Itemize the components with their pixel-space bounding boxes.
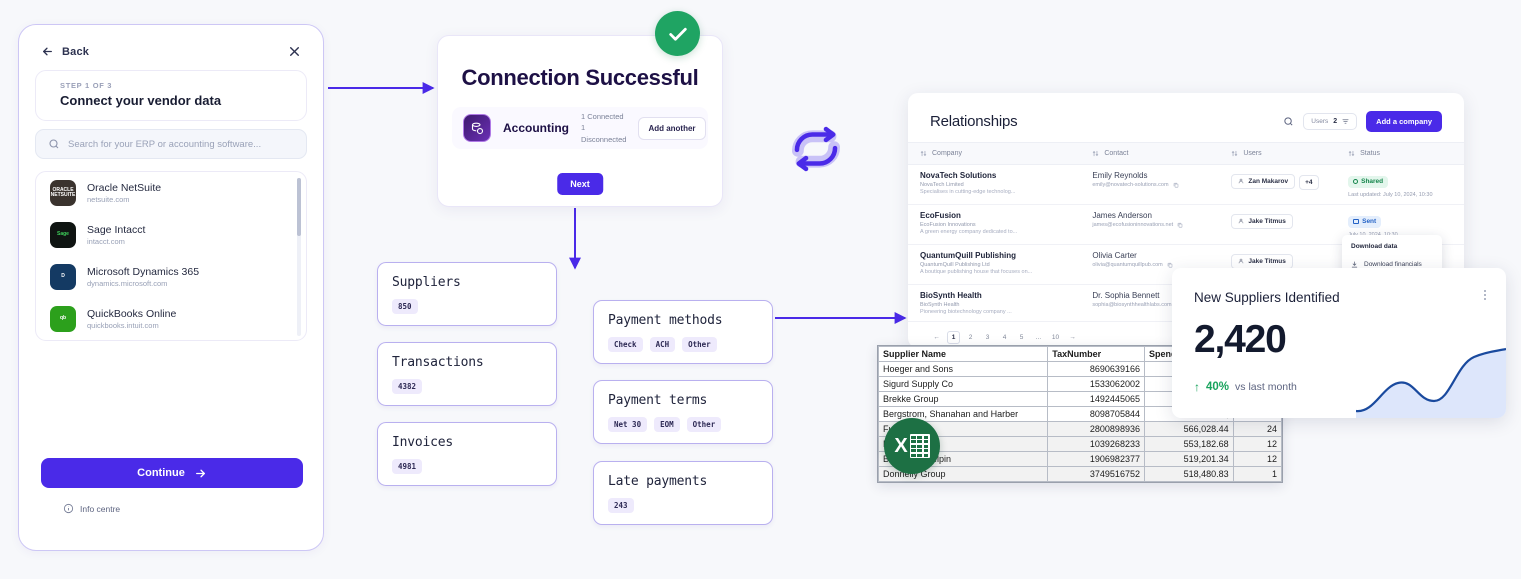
sort-icon — [920, 150, 927, 157]
connection-counts: 1 Connected 1 Disconnected — [581, 111, 626, 146]
column-label: Status — [1360, 150, 1380, 157]
shared-dot-icon — [1353, 179, 1358, 184]
chip: 4382 — [392, 379, 422, 394]
success-check-badge — [655, 11, 700, 56]
excel-grid-glyph — [910, 434, 930, 458]
kebab-menu-icon[interactable] — [1484, 290, 1486, 300]
add-another-button[interactable]: Add another — [638, 117, 705, 140]
vendor-logo-text: Sage — [57, 232, 69, 237]
company-description: A green energy company dedicated to... — [920, 229, 1080, 235]
vendor-list-scrollbar[interactable] — [297, 178, 301, 336]
sync-arrows-icon — [787, 120, 845, 178]
excel-x-glyph: X — [894, 435, 907, 458]
excel-cell-name[interactable]: Hoeger and Sons — [879, 362, 1048, 377]
vendor-url: quickbooks.intuit.com — [87, 321, 176, 330]
status-timestamp: Last updated: July 10, 2024, 10:30 — [1348, 192, 1464, 198]
status-label: Shared — [1361, 178, 1383, 185]
stat-title: Suppliers — [392, 275, 542, 290]
excel-cell-tax[interactable]: 1492445065 — [1048, 392, 1145, 407]
company-name: EcoFusion — [920, 211, 1080, 220]
chip: EOM — [654, 417, 680, 432]
user-pill[interactable]: Zan Makarov — [1231, 174, 1295, 189]
company-description: Pioneering biotechnology company ... — [920, 309, 1080, 315]
user-pill[interactable]: Jake Titmus — [1231, 254, 1292, 269]
download-menu-title: Download data — [1342, 241, 1442, 256]
user-name: Jake Titmus — [1248, 218, 1285, 225]
excel-column-header[interactable]: TaxNumber — [1048, 347, 1145, 362]
chip: 243 — [608, 498, 634, 513]
excel-cell-tax[interactable]: 1906982377 — [1048, 452, 1145, 467]
excel-file-icon: X — [884, 418, 940, 474]
sort-icon — [1348, 150, 1355, 157]
excel-cell-name[interactable]: Brekke Group — [879, 392, 1048, 407]
pagination-page-...[interactable]: ... — [1032, 331, 1045, 344]
pagination-prev[interactable]: ← — [930, 331, 943, 344]
sort-icon — [1092, 150, 1099, 157]
excel-column-header[interactable]: Supplier Name — [879, 347, 1048, 362]
download-financials-label: Download financials — [1364, 261, 1422, 268]
page-title: Relationships — [930, 113, 1017, 130]
vendor-name: Microsoft Dynamics 365 — [87, 266, 199, 278]
excel-cell-spend[interactable]: 566,028.44 — [1144, 422, 1233, 437]
excel-row[interactable]: Fu2800898936566,028.4424 — [879, 422, 1282, 437]
stat-card-invoices: Invoices 4981 — [377, 422, 557, 486]
company-name: BioSynth Health — [920, 291, 1080, 300]
step-title: Connect your vendor data — [60, 93, 292, 108]
pagination-page-2[interactable]: 2 — [964, 331, 977, 344]
status-badge: Shared — [1348, 176, 1388, 188]
company-description: A boutique publishing house that focuses… — [920, 269, 1080, 275]
users-filter-chip[interactable]: Users 2 — [1303, 113, 1357, 130]
chip: ACH — [650, 337, 676, 352]
stat-title: Invoices — [392, 435, 542, 450]
company-legal-name: QuantumQuill Publishing Ltd — [920, 262, 1080, 268]
kpi-delta-note: vs last month — [1235, 381, 1297, 393]
users-filter-count: 2 — [1333, 118, 1337, 125]
contact-email: sophia@biosynthhealthlabs.com — [1092, 302, 1171, 308]
copy-icon[interactable] — [1173, 182, 1179, 188]
check-circle-icon — [667, 23, 689, 45]
connected-count: 1 Connected — [581, 111, 626, 123]
chip: 4981 — [392, 459, 422, 474]
vendor-logo-text: ORACLE NETSUITE — [50, 188, 76, 199]
pagination-page-4[interactable]: 4 — [998, 331, 1011, 344]
cell-users: Zan Makarov+4 — [1219, 165, 1336, 205]
vendor-list-item[interactable]: ORACLE NETSUITEOracle NetSuitenetsuite.c… — [36, 172, 306, 214]
column-header-users[interactable]: Users — [1219, 143, 1336, 165]
contact-email: olivia@quantumquillpub.com — [1092, 262, 1162, 268]
excel-cell-count[interactable]: 12 — [1233, 437, 1281, 452]
user-name: Jake Titmus — [1248, 258, 1285, 265]
vendor-name: QuickBooks Online — [87, 308, 176, 320]
download-icon — [1351, 261, 1358, 268]
info-icon — [63, 503, 74, 514]
back-label: Back — [62, 46, 89, 58]
company-legal-name: EcoFusion Innovations — [920, 222, 1080, 228]
arrow-right-icon — [194, 467, 207, 480]
stat-chips: 4382 — [392, 379, 542, 394]
search-icon — [48, 138, 60, 150]
stat-chips: 850 — [392, 299, 542, 314]
excel-cell-tax[interactable]: 3749516752 — [1048, 467, 1145, 482]
search-icon[interactable] — [1283, 116, 1294, 127]
kpi-title: New Suppliers Identified — [1194, 290, 1340, 305]
column-label: Contact — [1104, 150, 1128, 157]
erp-search-placeholder: Search for your ERP or accounting softwa… — [68, 139, 261, 150]
continue-button[interactable]: Continue — [41, 458, 303, 488]
vendor-list-item[interactable]: SageSage Intacctintacct.com — [36, 214, 306, 256]
stat-title: Late payments — [608, 474, 758, 489]
canvas: Back STEP 1 OF 3 Connect your vendor dat… — [0, 0, 1521, 579]
excel-cell-spend[interactable]: 519,201.34 — [1144, 452, 1233, 467]
column-label: Users — [1243, 150, 1261, 157]
accounting-icon — [463, 114, 491, 142]
stat-chips: Check ACH Other — [608, 337, 758, 352]
excel-cell-tax[interactable]: 8098705844 — [1048, 407, 1145, 422]
stat-card-payment-methods: Payment methods Check ACH Other — [593, 300, 773, 364]
copy-icon[interactable] — [1177, 222, 1183, 228]
arrow-left-icon — [41, 45, 54, 58]
vendor-url: dynamics.microsoft.com — [87, 279, 199, 288]
contact-name: James Anderson — [1092, 211, 1219, 220]
chip: Check — [608, 337, 643, 352]
connection-title: Connection Successful — [438, 65, 722, 91]
contact-email: james@ecofusioninnovations.net — [1092, 222, 1173, 228]
chip: Other — [687, 417, 722, 432]
stat-title: Payment terms — [608, 393, 758, 408]
info-centre-label: Info centre — [80, 504, 120, 514]
excel-cell-tax[interactable]: 8690639166 — [1048, 362, 1145, 377]
vendor-list-item[interactable]: qbQuickBooks Onlinequickbooks.intuit.com — [36, 298, 306, 340]
excel-cell-spend[interactable]: 518,480.83 — [1144, 467, 1233, 482]
integration-row: Accounting 1 Connected 1 Disconnected Ad… — [452, 107, 708, 149]
stat-card-transactions: Transactions 4382 — [377, 342, 557, 406]
sparkline-chart — [1356, 343, 1506, 418]
erp-search-input[interactable]: Search for your ERP or accounting softwa… — [35, 129, 307, 159]
pagination-page-10[interactable]: 10 — [1049, 331, 1062, 344]
excel-cell-count[interactable]: 1 — [1233, 467, 1281, 482]
table-row[interactable]: NovaTech SolutionsNovaTech LimitedSpecia… — [908, 165, 1464, 205]
excel-cell-count[interactable]: 12 — [1233, 452, 1281, 467]
cell-company: QuantumQuill PublishingQuantumQuill Publ… — [908, 245, 1080, 285]
column-header-company[interactable]: Company — [908, 143, 1080, 165]
step-indicator: STEP 1 OF 3 — [60, 81, 292, 90]
pagination-page-3[interactable]: 3 — [981, 331, 994, 344]
sort-icon — [1231, 150, 1238, 157]
stat-chips: Net 30 EOM Other — [608, 417, 758, 432]
cell-status: SharedLast updated: July 10, 2024, 10:30 — [1336, 165, 1464, 205]
cell-contact: James Andersonjames@ecofusioninnovations… — [1080, 205, 1219, 245]
wizard-header: Back — [19, 25, 323, 66]
vendor-logo-text: qb — [60, 316, 66, 321]
stat-card-suppliers: Suppliers 850 — [377, 262, 557, 326]
cell-company: EcoFusionEcoFusion InnovationsA green en… — [908, 205, 1080, 245]
relationships-header: Relationships Users 2 Add a company — [908, 93, 1464, 142]
trend-up-icon: ↑ — [1194, 380, 1200, 394]
cell-company: BioSynth HealthBioSynth HealthPioneering… — [908, 285, 1080, 322]
kpi-delta: ↑ 40% vs last month — [1194, 380, 1297, 394]
vendor-logo-text: D — [61, 274, 65, 279]
kpi-delta-percent: 40% — [1206, 381, 1229, 393]
column-label: Company — [932, 150, 962, 157]
filter-icon — [1342, 118, 1349, 125]
envelope-icon — [1353, 219, 1359, 224]
close-icon[interactable] — [288, 45, 301, 58]
column-header-contact[interactable]: Contact — [1080, 143, 1219, 165]
vendor-name: Sage Intacct — [87, 224, 145, 236]
copy-icon[interactable] — [1167, 262, 1173, 268]
cell-company: NovaTech SolutionsNovaTech LimitedSpecia… — [908, 165, 1080, 205]
chip: Net 30 — [608, 417, 647, 432]
excel-cell-tax[interactable]: 2800898936 — [1048, 422, 1145, 437]
cell-users: Jake Titmus — [1219, 205, 1336, 245]
user-pill[interactable]: Jake Titmus — [1231, 214, 1292, 229]
pagination-page-5[interactable]: 5 — [1015, 331, 1028, 344]
continue-label: Continue — [137, 467, 185, 479]
back-button[interactable]: Back — [41, 45, 89, 58]
relationships-actions: Users 2 Add a company — [1283, 111, 1442, 132]
user-overflow-count[interactable]: +4 — [1299, 175, 1318, 190]
kpi-card-new-suppliers: New Suppliers Identified 2,420 ↑ 40% vs … — [1172, 268, 1506, 418]
vendor-logo: ORACLE NETSUITE — [50, 180, 76, 206]
chip: 850 — [392, 299, 418, 314]
users-filter-label: Users — [1311, 118, 1328, 125]
integration-label: Accounting — [503, 121, 569, 135]
disconnected-count: 1 Disconnected — [581, 122, 626, 145]
vendor-url: netsuite.com — [87, 195, 161, 204]
company-name: QuantumQuill Publishing — [920, 251, 1080, 260]
company-name: NovaTech Solutions — [920, 171, 1080, 180]
contact-name: Olivia Carter — [1092, 251, 1219, 260]
company-description: Specialises in cutting-edge technolog... — [920, 189, 1080, 195]
pagination-next[interactable]: → — [1066, 331, 1079, 344]
column-header-status[interactable]: Status — [1336, 143, 1464, 165]
vendor-list-item[interactable]: DMicrosoft Dynamics 365dynamics.microsof… — [36, 256, 306, 298]
vendor-name: Oracle NetSuite — [87, 182, 161, 194]
vendor-connect-wizard: Back STEP 1 OF 3 Connect your vendor dat… — [18, 24, 324, 551]
contact-email: emily@novatech-solutions.com — [1092, 182, 1168, 188]
stat-title: Payment methods — [608, 313, 758, 328]
user-icon — [1238, 178, 1244, 184]
excel-cell-count[interactable]: 24 — [1233, 422, 1281, 437]
vendor-url: intacct.com — [87, 237, 145, 246]
add-company-button[interactable]: Add a company — [1366, 111, 1442, 132]
vendor-list[interactable]: ORACLE NETSUITEOracle NetSuitenetsuite.c… — [35, 171, 307, 341]
contact-name: Emily Reynolds — [1092, 171, 1219, 180]
company-legal-name: BioSynth Health — [920, 302, 1080, 308]
excel-row[interactable]: Donnelly Group3749516752518,480.831 — [879, 467, 1282, 482]
company-legal-name: NovaTech Limited — [920, 182, 1080, 188]
connection-successful-card: Connection Successful Accounting 1 Conne… — [437, 35, 723, 207]
excel-cell-name[interactable]: Sigurd Supply Co — [879, 377, 1048, 392]
stat-title: Transactions — [392, 355, 542, 370]
pagination-page-1[interactable]: 1 — [947, 331, 960, 344]
kpi-value: 2,420 — [1194, 318, 1286, 362]
table-header-row: CompanyContactUsersStatus — [908, 143, 1464, 165]
status-badge: Sent — [1348, 216, 1381, 228]
info-centre-link[interactable]: Info centre — [63, 503, 120, 514]
cell-contact: Emily Reynoldsemily@novatech-solutions.c… — [1080, 165, 1219, 205]
chip: Other — [682, 337, 717, 352]
stat-chips: 4981 — [392, 459, 542, 474]
next-button[interactable]: Next — [557, 173, 603, 195]
excel-row[interactable]: Bo y and Koelpin1906982377519,201.3412 — [879, 452, 1282, 467]
stat-chips: 243 — [608, 498, 758, 513]
excel-cell-tax[interactable]: 1533062002 — [1048, 377, 1145, 392]
vendor-logo: D — [50, 264, 76, 290]
step-header-card: STEP 1 OF 3 Connect your vendor data — [35, 70, 307, 121]
vendor-logo: qb — [50, 306, 76, 332]
vendor-logo: Sage — [50, 222, 76, 248]
user-icon — [1238, 218, 1244, 224]
stat-card-late-payments: Late payments 243 — [593, 461, 773, 525]
stat-card-payment-terms: Payment terms Net 30 EOM Other — [593, 380, 773, 444]
status-label: Sent — [1362, 218, 1376, 225]
user-name: Zan Makarov — [1248, 178, 1288, 185]
excel-cell-spend[interactable]: 553,182.68 — [1144, 437, 1233, 452]
user-icon — [1238, 258, 1244, 264]
excel-cell-tax[interactable]: 1039268233 — [1048, 437, 1145, 452]
